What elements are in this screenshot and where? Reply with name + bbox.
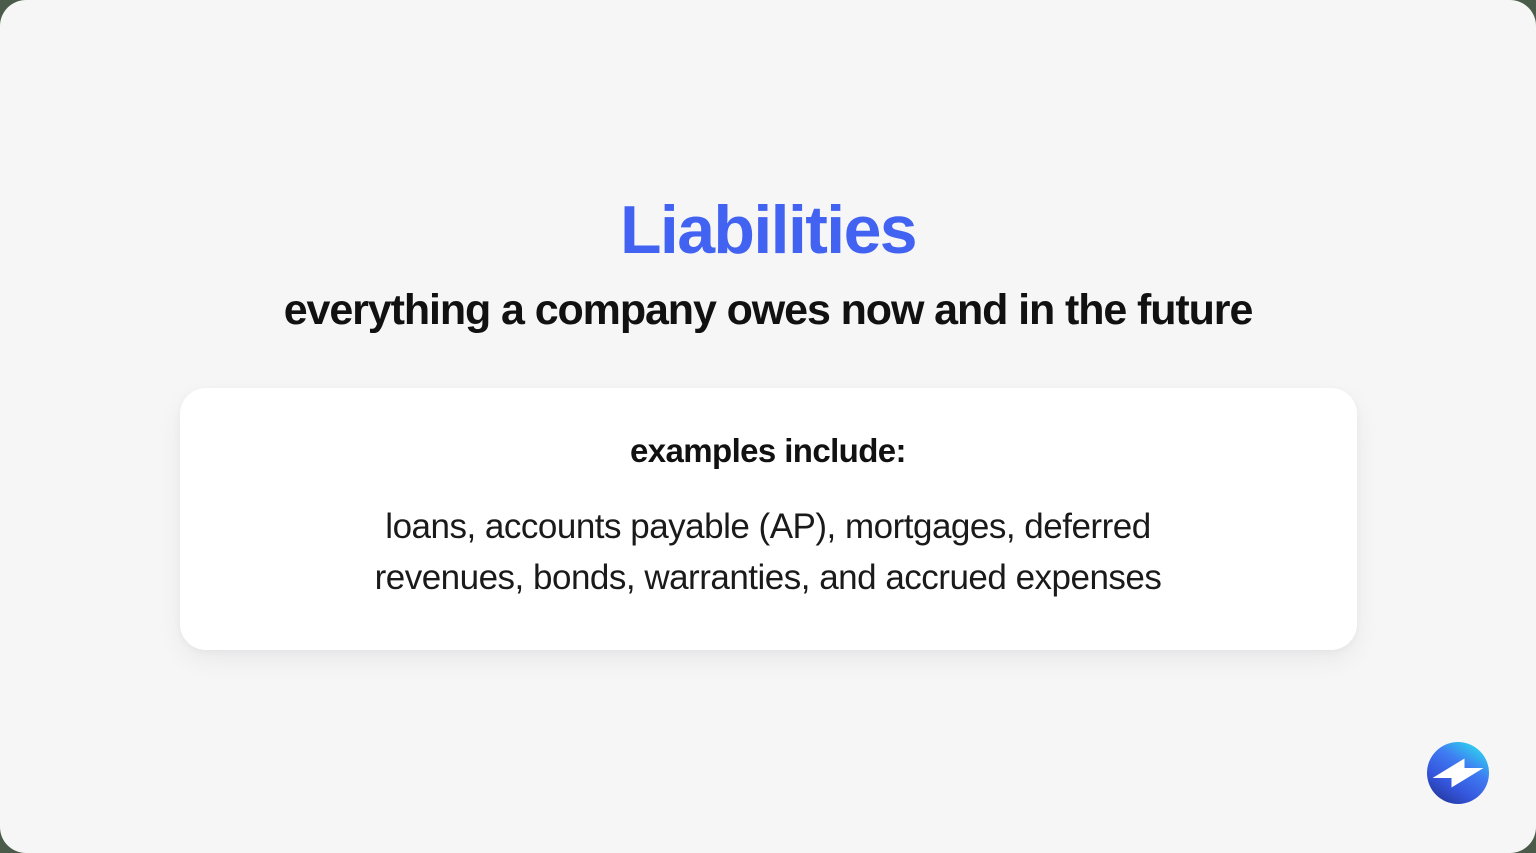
page-title: Liabilities: [620, 196, 916, 264]
examples-card-heading: examples include:: [630, 431, 906, 471]
slide-root: Liabilities everything a company owes no…: [0, 0, 1536, 853]
lightning-bolt-logo: [1426, 741, 1490, 805]
slide-content: Liabilities everything a company owes no…: [0, 0, 1536, 853]
examples-card: examples include: loans, accounts payabl…: [180, 388, 1357, 650]
page-subtitle: everything a company owes now and in the…: [284, 286, 1253, 334]
examples-body-line-1: loans, accounts payable (AP), mortgages,…: [375, 501, 1162, 552]
examples-body-line-2: revenues, bonds, warranties, and accrued…: [375, 552, 1162, 603]
examples-card-body: loans, accounts payable (AP), mortgages,…: [375, 501, 1162, 603]
